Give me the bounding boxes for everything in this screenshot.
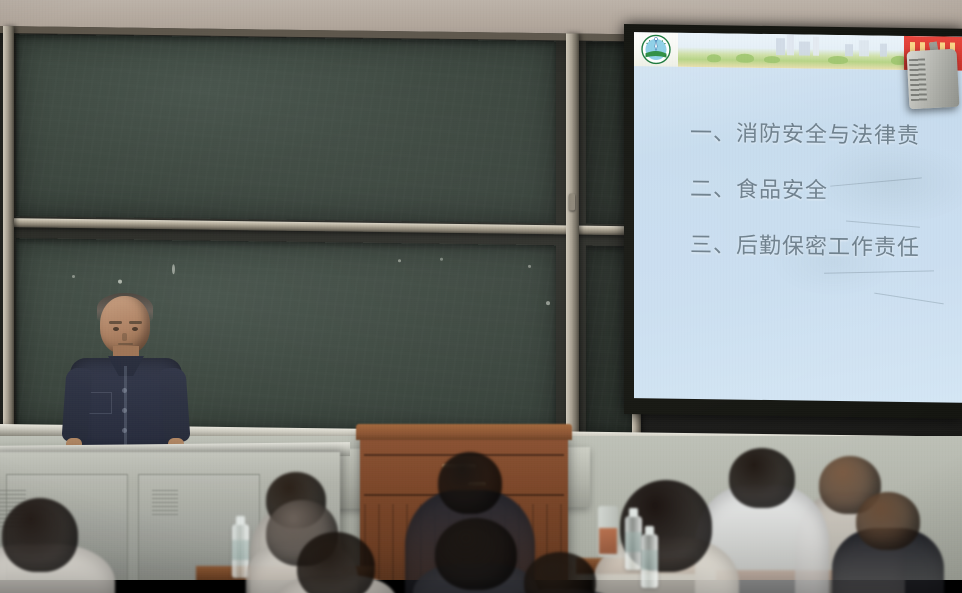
chalk-mark bbox=[118, 280, 122, 284]
blackboard-center-rail bbox=[566, 33, 579, 446]
blackboard-left-rail bbox=[3, 26, 14, 439]
chalk-mark bbox=[528, 265, 531, 268]
audience-member-head bbox=[856, 492, 920, 550]
chalk-mark bbox=[546, 301, 550, 305]
audience-member-right-front bbox=[832, 492, 944, 593]
slide-content: 一、消防安全与法律责 二、食品安全 三、后勤保密工作责任 bbox=[634, 66, 962, 403]
presenter-right-arm bbox=[159, 367, 190, 443]
audience-member-center-front bbox=[505, 552, 615, 593]
institution-emblem-icon bbox=[634, 32, 678, 67]
chalk-mark bbox=[440, 258, 443, 261]
audience-member-center-left bbox=[276, 532, 396, 593]
presenter-shirt-button bbox=[122, 388, 127, 393]
presenter-shirt-button bbox=[122, 408, 127, 413]
cabinet-lid bbox=[356, 424, 572, 440]
audience-member-head bbox=[2, 498, 78, 572]
wall-mounted-speaker-icon bbox=[907, 49, 960, 110]
classroom-photo: 一、消防安全与法律责 二、食品安全 三、后勤保密工作责任 bbox=[0, 0, 962, 593]
presenter-at-podium bbox=[64, 296, 188, 464]
audience-member-head bbox=[297, 532, 375, 593]
chalk-mark bbox=[398, 259, 401, 262]
blackboard-slide-handle[interactable] bbox=[569, 193, 575, 210]
podium-vent bbox=[152, 490, 178, 516]
audience-member-head bbox=[438, 452, 502, 514]
tea-cup-center bbox=[598, 506, 618, 556]
audience-member-head bbox=[524, 552, 596, 593]
water-bottle-right bbox=[641, 534, 658, 588]
presenter-left-arm bbox=[61, 367, 92, 443]
chalk-mark bbox=[72, 275, 75, 278]
slide-line-2: 二、食品安全 bbox=[690, 179, 962, 205]
audience-member-front-left-woman bbox=[0, 498, 115, 593]
slide-line-1: 一、消防安全与法律责 bbox=[690, 123, 962, 149]
chalk-mark bbox=[172, 264, 175, 274]
slide-line-3: 三、后勤保密工作责任 bbox=[690, 235, 962, 261]
blackboard-panel-upper-left bbox=[16, 34, 556, 223]
water-bottle-center bbox=[625, 516, 642, 570]
presenter-shirt-button bbox=[122, 428, 127, 433]
